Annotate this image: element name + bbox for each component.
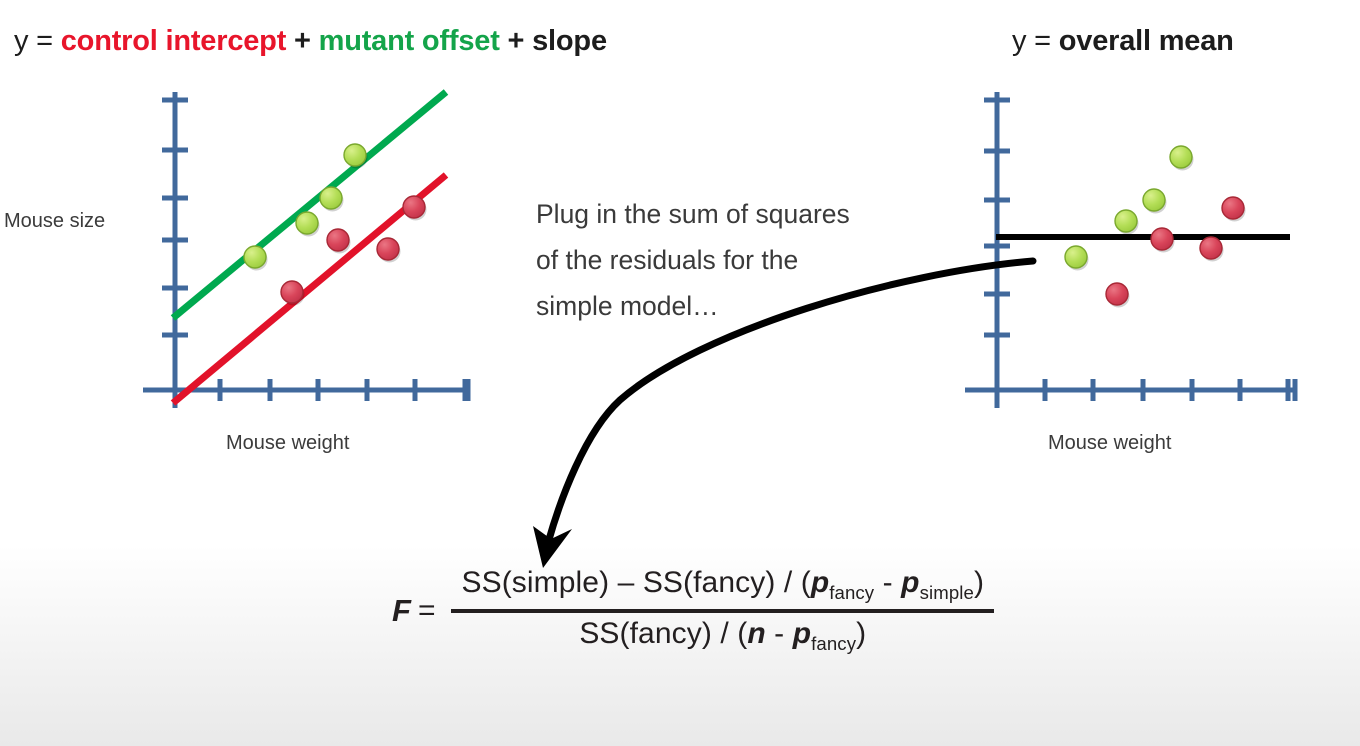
simple-model-plot-green-point-1 — [1115, 210, 1137, 232]
title-term-control-intercept: control intercept — [61, 25, 286, 57]
formula-equals-sign: = — [418, 594, 436, 628]
title-right-lhs: y = — [1012, 25, 1059, 57]
simple-model-plot-point-shadow — [1202, 240, 1224, 262]
fancy-model-plot-point-shadow — [379, 241, 401, 263]
simple-model-plot-point-shadow — [1117, 213, 1139, 235]
x-axis-label-left: Mouse weight — [226, 432, 349, 455]
simple-model-plot-point-shadow — [1145, 192, 1167, 214]
fancy-model-plot-point-shadow — [322, 190, 344, 212]
f-statistic-formula: F = SS(simple) – SS(fancy) / (pfancy - p… — [392, 565, 994, 656]
y-axis-label-left: Mouse size — [4, 210, 105, 233]
simple-model-plot-green-point-2 — [1143, 189, 1165, 211]
simple-model-plot-point-shadow — [1224, 200, 1246, 222]
arrow-head — [533, 526, 572, 568]
formula-denominator: SS(fancy) / (n - pfancy) — [569, 616, 876, 656]
fancy-model-plot-point-shadow — [298, 215, 320, 237]
simple-model-plot-green-point-0 — [1065, 246, 1087, 268]
title-term-mutant-offset: mutant offset — [319, 25, 500, 57]
slide-canvas: y = control intercept + mutant offset + … — [0, 0, 1360, 746]
fancy-model-plot-mutant-fit — [173, 92, 446, 318]
fancy-model-plot-control-fit — [173, 175, 446, 403]
fancy-model-plot-red-point-3 — [403, 196, 425, 218]
instruction-line-3: simple model… — [536, 283, 956, 329]
fancy-model-plot-red-point-1 — [327, 229, 349, 251]
simple-model-plot-point-shadow — [1172, 149, 1194, 171]
formula-numerator: SS(simple) – SS(fancy) / (pfancy - psimp… — [451, 565, 994, 605]
title-left-plus-1: + — [286, 25, 318, 57]
page-title-simple-model: y = overall mean — [1012, 25, 1234, 58]
fancy-model-plot-point-shadow — [329, 232, 351, 254]
instruction-line-2: of the residuals for the — [536, 237, 956, 283]
fancy-model-plot-green-point-3 — [344, 144, 366, 166]
page-title-fancy-model: y = control intercept + mutant offset + … — [14, 25, 607, 58]
formula-lhs-variable: F — [392, 593, 411, 629]
title-left-plus-2: + — [500, 25, 532, 57]
fancy-model-plot-point-shadow — [246, 249, 268, 271]
instruction-line-1: Plug in the sum of squares — [536, 191, 956, 237]
simple-model-plot-red-point-3 — [1222, 197, 1244, 219]
fancy-model-plot-green-point-2 — [320, 187, 342, 209]
fancy-model-plot-point-shadow — [283, 284, 305, 306]
simple-model-plot-point-shadow — [1153, 231, 1175, 253]
simple-model-plot-red-point-2 — [1200, 237, 1222, 259]
title-term-overall-mean: overall mean — [1059, 25, 1234, 57]
simple-model-plot-red-point-0 — [1106, 283, 1128, 305]
title-term-slope: slope — [532, 25, 607, 57]
fancy-model-plot-green-point-0 — [244, 246, 266, 268]
fancy-model-plot-red-point-0 — [281, 281, 303, 303]
formula-fraction: SS(simple) – SS(fancy) / (pfancy - psimp… — [451, 565, 994, 656]
formula-fraction-bar — [451, 609, 994, 613]
fancy-model-plot-red-point-2 — [377, 238, 399, 260]
simple-model-plot-green-point-3 — [1170, 146, 1192, 168]
simple-model-plot-red-point-1 — [1151, 228, 1173, 250]
simple-model-plot-point-shadow — [1108, 286, 1130, 308]
fancy-model-plot-point-shadow — [405, 199, 427, 221]
fancy-model-plot-green-point-1 — [296, 212, 318, 234]
fancy-model-plot-point-shadow — [346, 147, 368, 169]
x-axis-label-right: Mouse weight — [1048, 432, 1171, 455]
title-left-lhs: y = — [14, 25, 61, 57]
simple-model-plot-point-shadow — [1067, 249, 1089, 271]
instruction-text: Plug in the sum of squares of the residu… — [536, 191, 956, 329]
